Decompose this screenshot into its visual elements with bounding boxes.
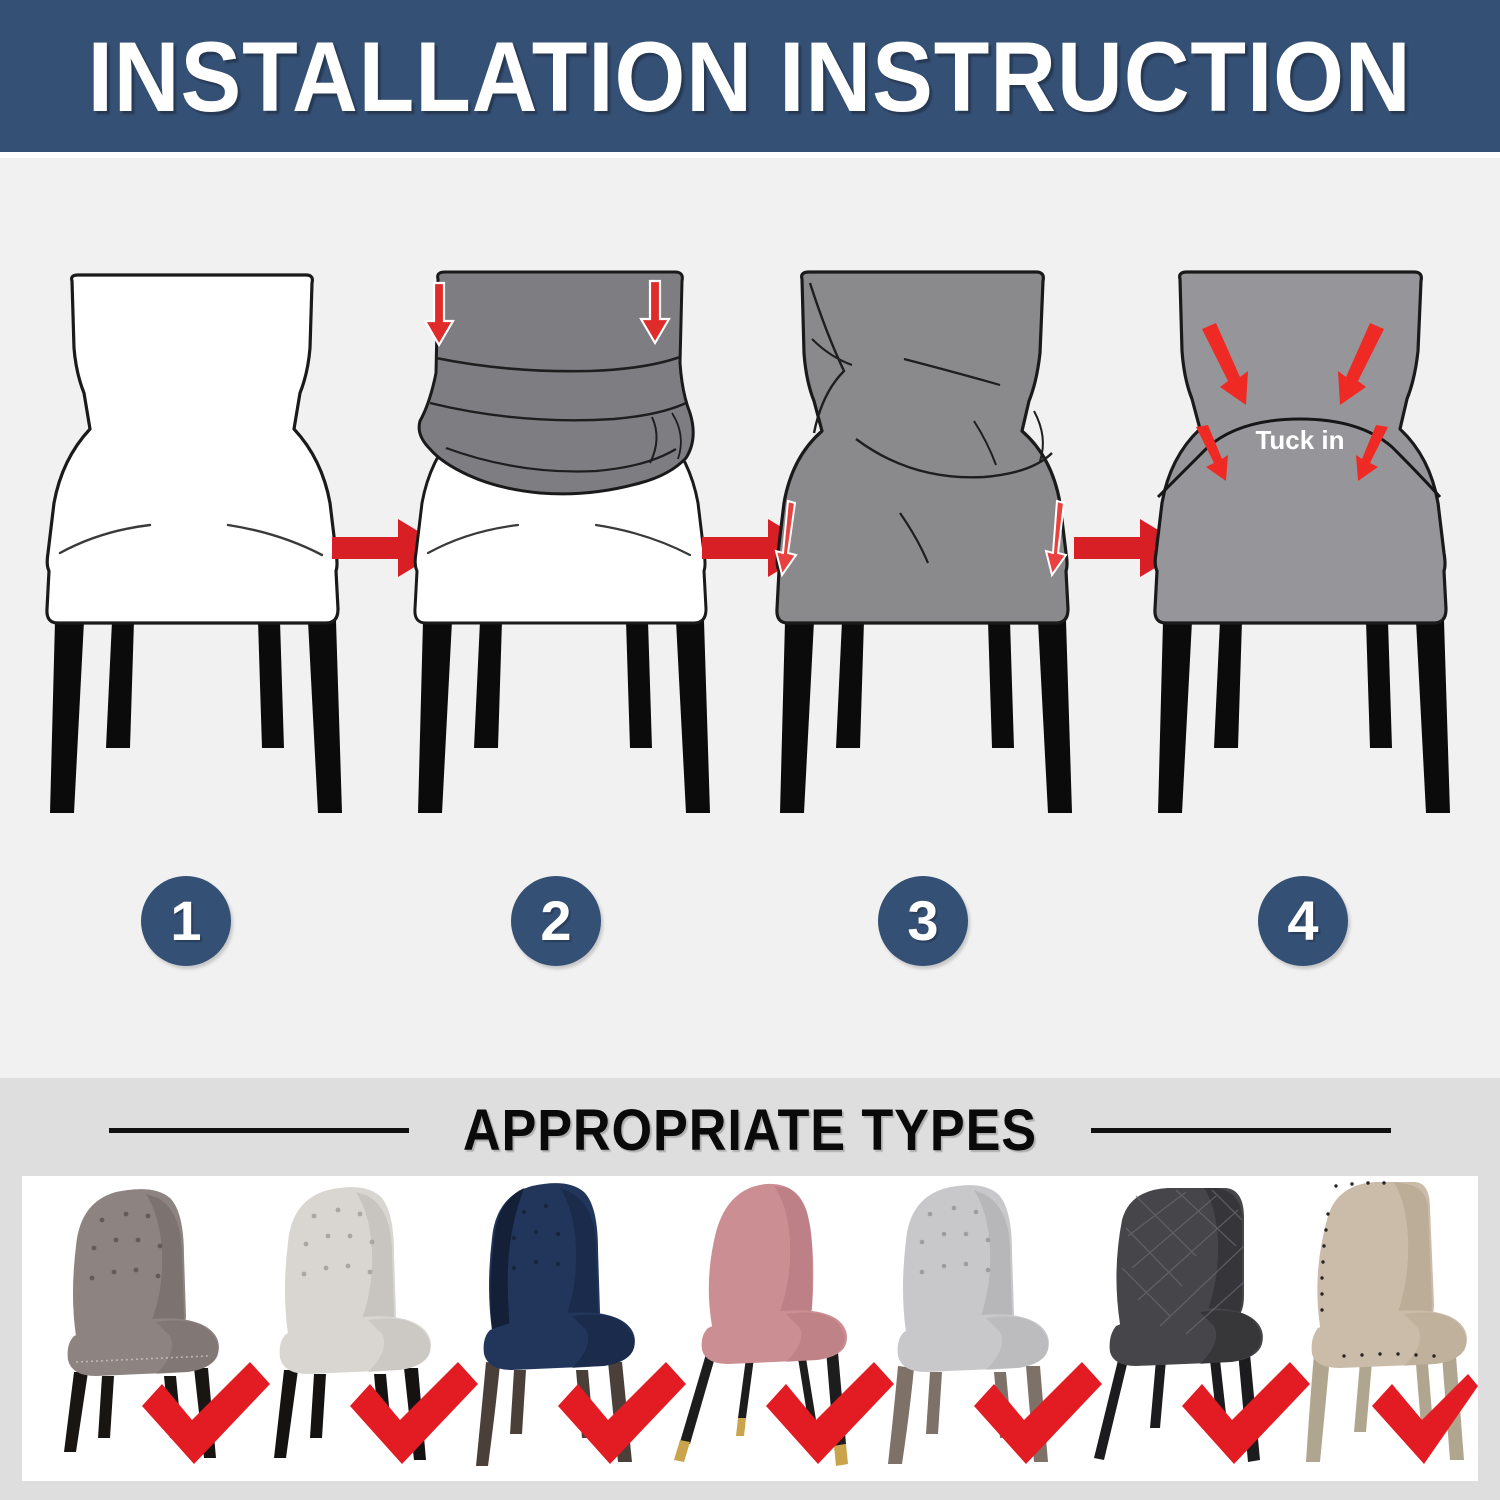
appropriate-types-title: APPROPRIATE TYPES — [463, 1097, 1037, 1164]
installation-steps-panel: Tuck in 1 2 3 4 — [0, 158, 1500, 1078]
step-number-badges: 1 2 3 4 — [0, 876, 1500, 996]
step-2-illustration — [390, 253, 730, 853]
appropriate-types-section: APPROPRIATE TYPES — [0, 1078, 1500, 1500]
infographic-page: INSTALLATION INSTRUCTION — [0, 0, 1500, 1500]
chair-photo-strip — [22, 1176, 1478, 1481]
step-1-illustration — [22, 253, 362, 853]
step-badge-2: 2 — [511, 876, 601, 966]
step-3-illustration — [752, 253, 1092, 853]
rule-right — [1091, 1128, 1391, 1133]
step-badge-4: 4 — [1258, 876, 1348, 966]
header-banner: INSTALLATION INSTRUCTION — [0, 0, 1500, 152]
steps-row: Tuck in — [0, 158, 1500, 858]
approval-checkmarks — [22, 1176, 1478, 1481]
step-badge-1: 1 — [141, 876, 231, 966]
appropriate-types-heading: APPROPRIATE TYPES — [0, 1086, 1500, 1174]
page-title: INSTALLATION INSTRUCTION — [88, 27, 1412, 126]
tuck-in-label: Tuck in — [1255, 425, 1344, 455]
tuck-in-drawing: Tuck in — [1130, 253, 1470, 853]
bare-chair-drawing — [22, 253, 362, 853]
cover-draped-drawing — [752, 253, 1092, 853]
rule-left — [109, 1128, 409, 1133]
cover-over-back-drawing — [390, 253, 730, 853]
step-badge-3: 3 — [878, 876, 968, 966]
step-4-illustration: Tuck in — [1130, 253, 1470, 853]
